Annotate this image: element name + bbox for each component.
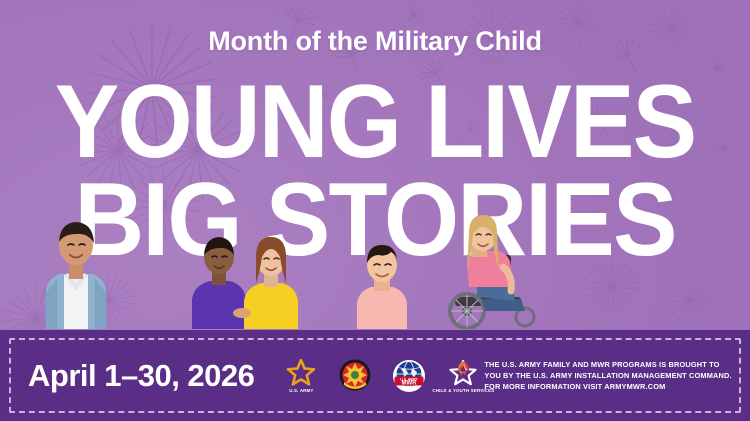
headline-line-2: BIG STORIES [26,178,724,263]
imcom-logo [334,354,376,398]
page-kicker: Month of the Military Child [0,28,750,55]
headline-line-1: YOUNG LIVES [26,80,724,165]
svg-text:MWR: MWR [402,380,418,386]
us-army-logo-caption: U.S. ARMY [289,388,313,393]
month-of-military-child-banner: Month of the Military Child YOUNG LIVES … [0,0,750,421]
disclaimer-line-1: THE U.S. ARMY FAMILY AND MWR PROGRAMS IS… [484,359,731,370]
footer-bar: April 1–30, 2026 U.S. ARMY [0,330,750,421]
us-army-logo: U.S. ARMY [280,354,322,398]
disclaimer-line-2: YOU BY THE U.S. ARMY INSTALLATION MANAGE… [484,370,731,381]
imcom-crest-icon [338,358,372,392]
army-mwr-logo: U.S. ARMY MWR [388,354,430,398]
us-army-star-icon [286,359,316,387]
event-date: April 1–30, 2026 [28,358,254,394]
disclaimer-line-3: FOR MORE INFORMATION VISIT ARMYMWR.COM [484,381,731,392]
child-youth-services-caption: CHILD & YOUTH SERVICES [432,388,494,393]
child-youth-services-star-icon [448,359,478,387]
logo-row: U.S. ARMY [280,354,484,398]
disclaimer-text: THE U.S. ARMY FAMILY AND MWR PROGRAMS IS… [484,359,731,392]
headline-block: Month of the Military Child [0,0,750,55]
army-mwr-globe-icon: U.S. ARMY MWR [392,359,426,393]
child-youth-services-logo: CHILD & YOUTH SERVICES [442,354,484,398]
